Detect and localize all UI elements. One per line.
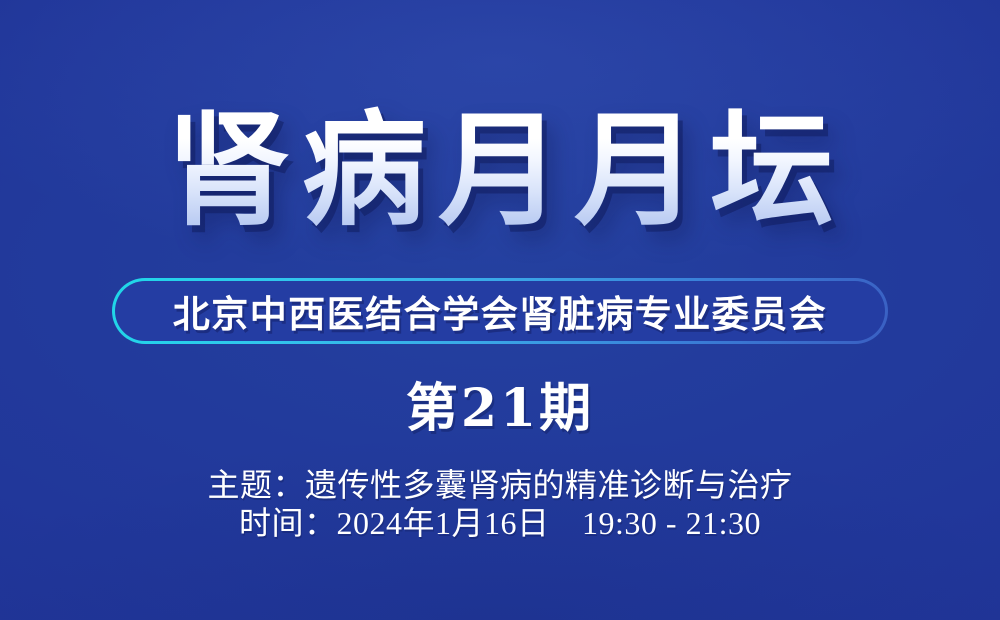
topic-line: 主题：遗传性多囊肾病的精准诊断与治疗 (0, 466, 1000, 504)
organization-label: 北京中西医结合学会肾脏病专业委员会 (173, 284, 828, 338)
details-block: 主题：遗传性多囊肾病的精准诊断与治疗 时间：2024年1月16日 19:30 -… (0, 466, 1000, 542)
poster-canvas: 肾病月月坛 北京中西医结合学会肾脏病专业委员会 第21期 主题：遗传性多囊肾病的… (0, 0, 1000, 620)
time-line: 时间：2024年1月16日 19:30 - 21:30 (0, 504, 1000, 542)
poster-title: 肾病月月坛 (154, 104, 846, 238)
organization-block: 北京中西医结合学会肾脏病专业委员会 (0, 278, 1000, 344)
issue-block: 第21期 (0, 380, 1000, 437)
organization-pill: 北京中西医结合学会肾脏病专业委员会 (112, 278, 888, 344)
issue-number: 第21期 (406, 380, 594, 437)
title-block: 肾病月月坛 (0, 104, 1000, 238)
